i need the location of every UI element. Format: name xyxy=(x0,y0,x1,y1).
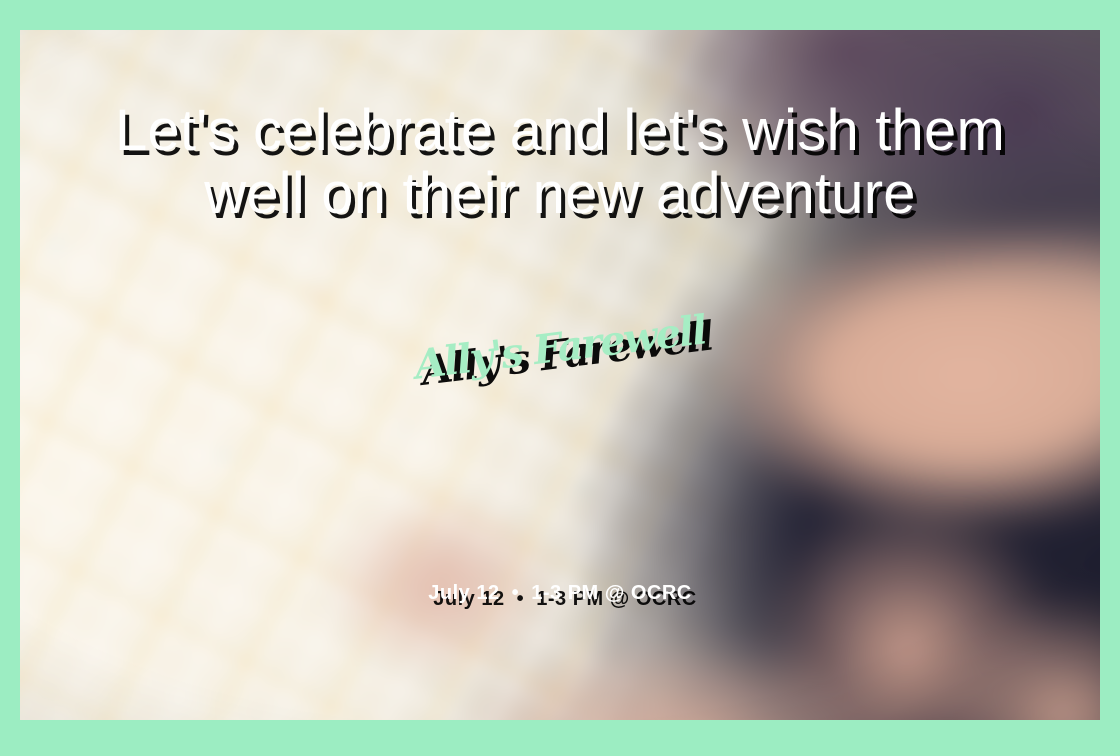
poster-canvas: Let's celebrate and let's wish them well… xyxy=(0,0,1120,756)
event-date: July 12 xyxy=(428,582,499,604)
at-symbol-icon: @ xyxy=(605,582,625,604)
event-time: 1-3 PM xyxy=(531,582,598,604)
event-details-line: July 12 • 1-3 PM @ OCRC xyxy=(20,583,1100,603)
event-venue: OCRC xyxy=(631,582,692,604)
headline-line-1: Let's celebrate and let's wish them xyxy=(50,100,1070,163)
background-photo: Let's celebrate and let's wish them well… xyxy=(20,30,1100,720)
headline-line-2: well on their new adventure xyxy=(50,163,1070,226)
bullet-separator-icon: • xyxy=(506,583,526,603)
headline-text: Let's celebrate and let's wish them well… xyxy=(20,100,1100,225)
